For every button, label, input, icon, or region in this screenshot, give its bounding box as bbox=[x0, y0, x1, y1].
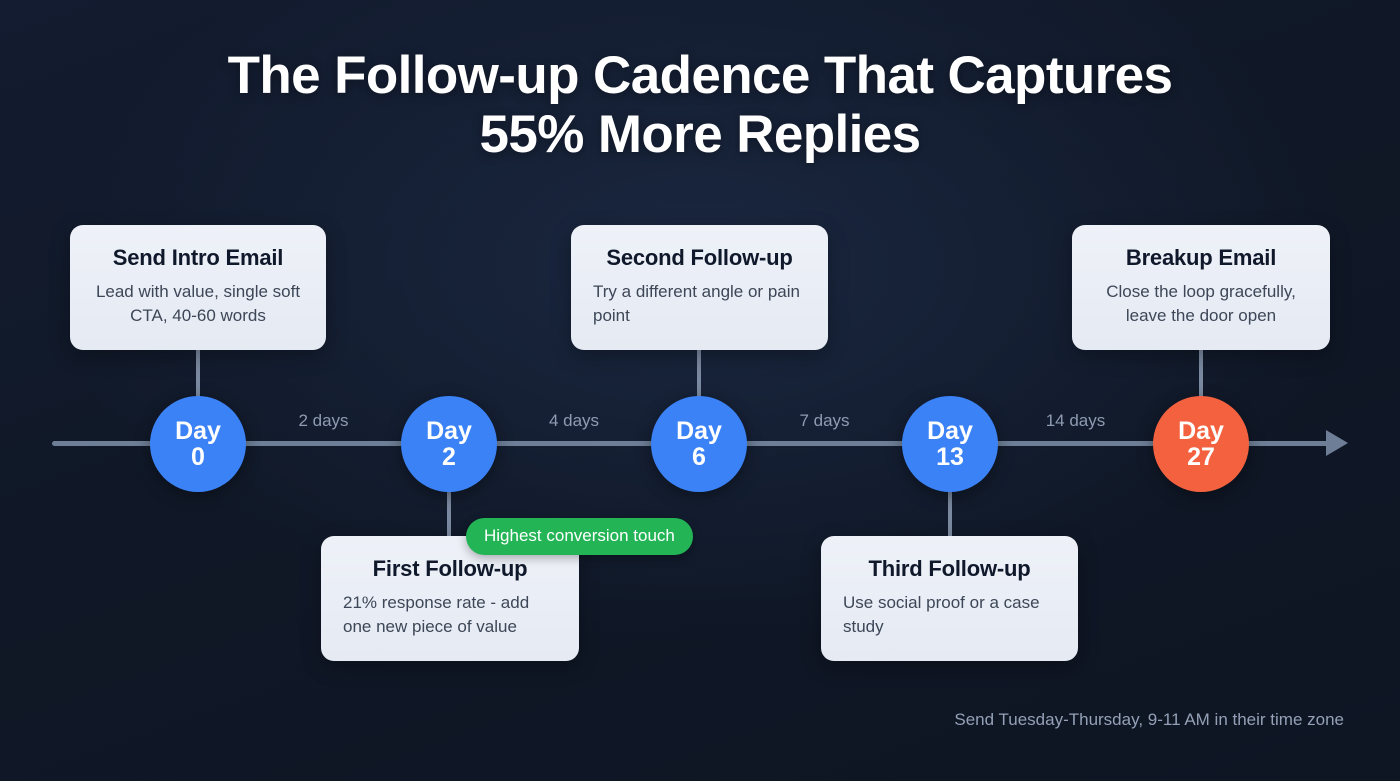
milestone-card[interactable]: Breakup EmailClose the loop gracefully, … bbox=[1072, 225, 1330, 350]
node-day-number: 13 bbox=[936, 444, 964, 471]
milestone-card-title: Third Follow-up bbox=[843, 556, 1056, 582]
title-line-2: 55% More Replies bbox=[0, 105, 1400, 164]
milestone-card-title: First Follow-up bbox=[343, 556, 557, 582]
node-day-number: 2 bbox=[442, 444, 456, 471]
interval-label: 4 days bbox=[497, 411, 651, 431]
milestone-card-description: Try a different angle or pain point bbox=[593, 280, 806, 328]
interval-label: 2 days bbox=[246, 411, 401, 431]
milestone-card-description: 21% response rate - add one new piece of… bbox=[343, 591, 557, 639]
milestone-card-description: Lead with value, single soft CTA, 40-60 … bbox=[92, 280, 304, 328]
milestone-card-description: Close the loop gracefully, leave the doo… bbox=[1094, 280, 1308, 328]
milestone-card[interactable]: Send Intro EmailLead with value, single … bbox=[70, 225, 326, 350]
milestone-card-description: Use social proof or a case study bbox=[843, 591, 1056, 639]
node-label: Day bbox=[175, 418, 221, 445]
interval-label: 14 days bbox=[998, 411, 1153, 431]
timeline-node-day-0[interactable]: Day0 bbox=[150, 396, 246, 492]
node-label: Day bbox=[426, 418, 472, 445]
timeline-node-day-2[interactable]: Day2 bbox=[401, 396, 497, 492]
footer-note: Send Tuesday-Thursday, 9-11 AM in their … bbox=[954, 710, 1344, 730]
node-day-number: 27 bbox=[1187, 444, 1215, 471]
timeline-node-day-6[interactable]: Day6 bbox=[651, 396, 747, 492]
timeline-node-day-13[interactable]: Day13 bbox=[902, 396, 998, 492]
milestone-card-title: Breakup Email bbox=[1094, 245, 1308, 271]
title-line-1: The Follow-up Cadence That Captures bbox=[0, 46, 1400, 105]
node-label: Day bbox=[1178, 418, 1224, 445]
node-day-number: 0 bbox=[191, 444, 205, 471]
milestone-card[interactable]: Second Follow-upTry a different angle or… bbox=[571, 225, 828, 350]
highlight-badge: Highest conversion touch bbox=[466, 518, 693, 555]
milestone-card-title: Send Intro Email bbox=[92, 245, 304, 271]
timeline-node-day-27[interactable]: Day27 bbox=[1153, 396, 1249, 492]
milestone-card[interactable]: Third Follow-upUse social proof or a cas… bbox=[821, 536, 1078, 661]
page-title: The Follow-up Cadence That Captures 55% … bbox=[0, 46, 1400, 165]
node-day-number: 6 bbox=[692, 444, 706, 471]
node-label: Day bbox=[676, 418, 722, 445]
node-label: Day bbox=[927, 418, 973, 445]
timeline-arrow-icon bbox=[1326, 430, 1348, 456]
milestone-card-title: Second Follow-up bbox=[593, 245, 806, 271]
interval-label: 7 days bbox=[747, 411, 902, 431]
